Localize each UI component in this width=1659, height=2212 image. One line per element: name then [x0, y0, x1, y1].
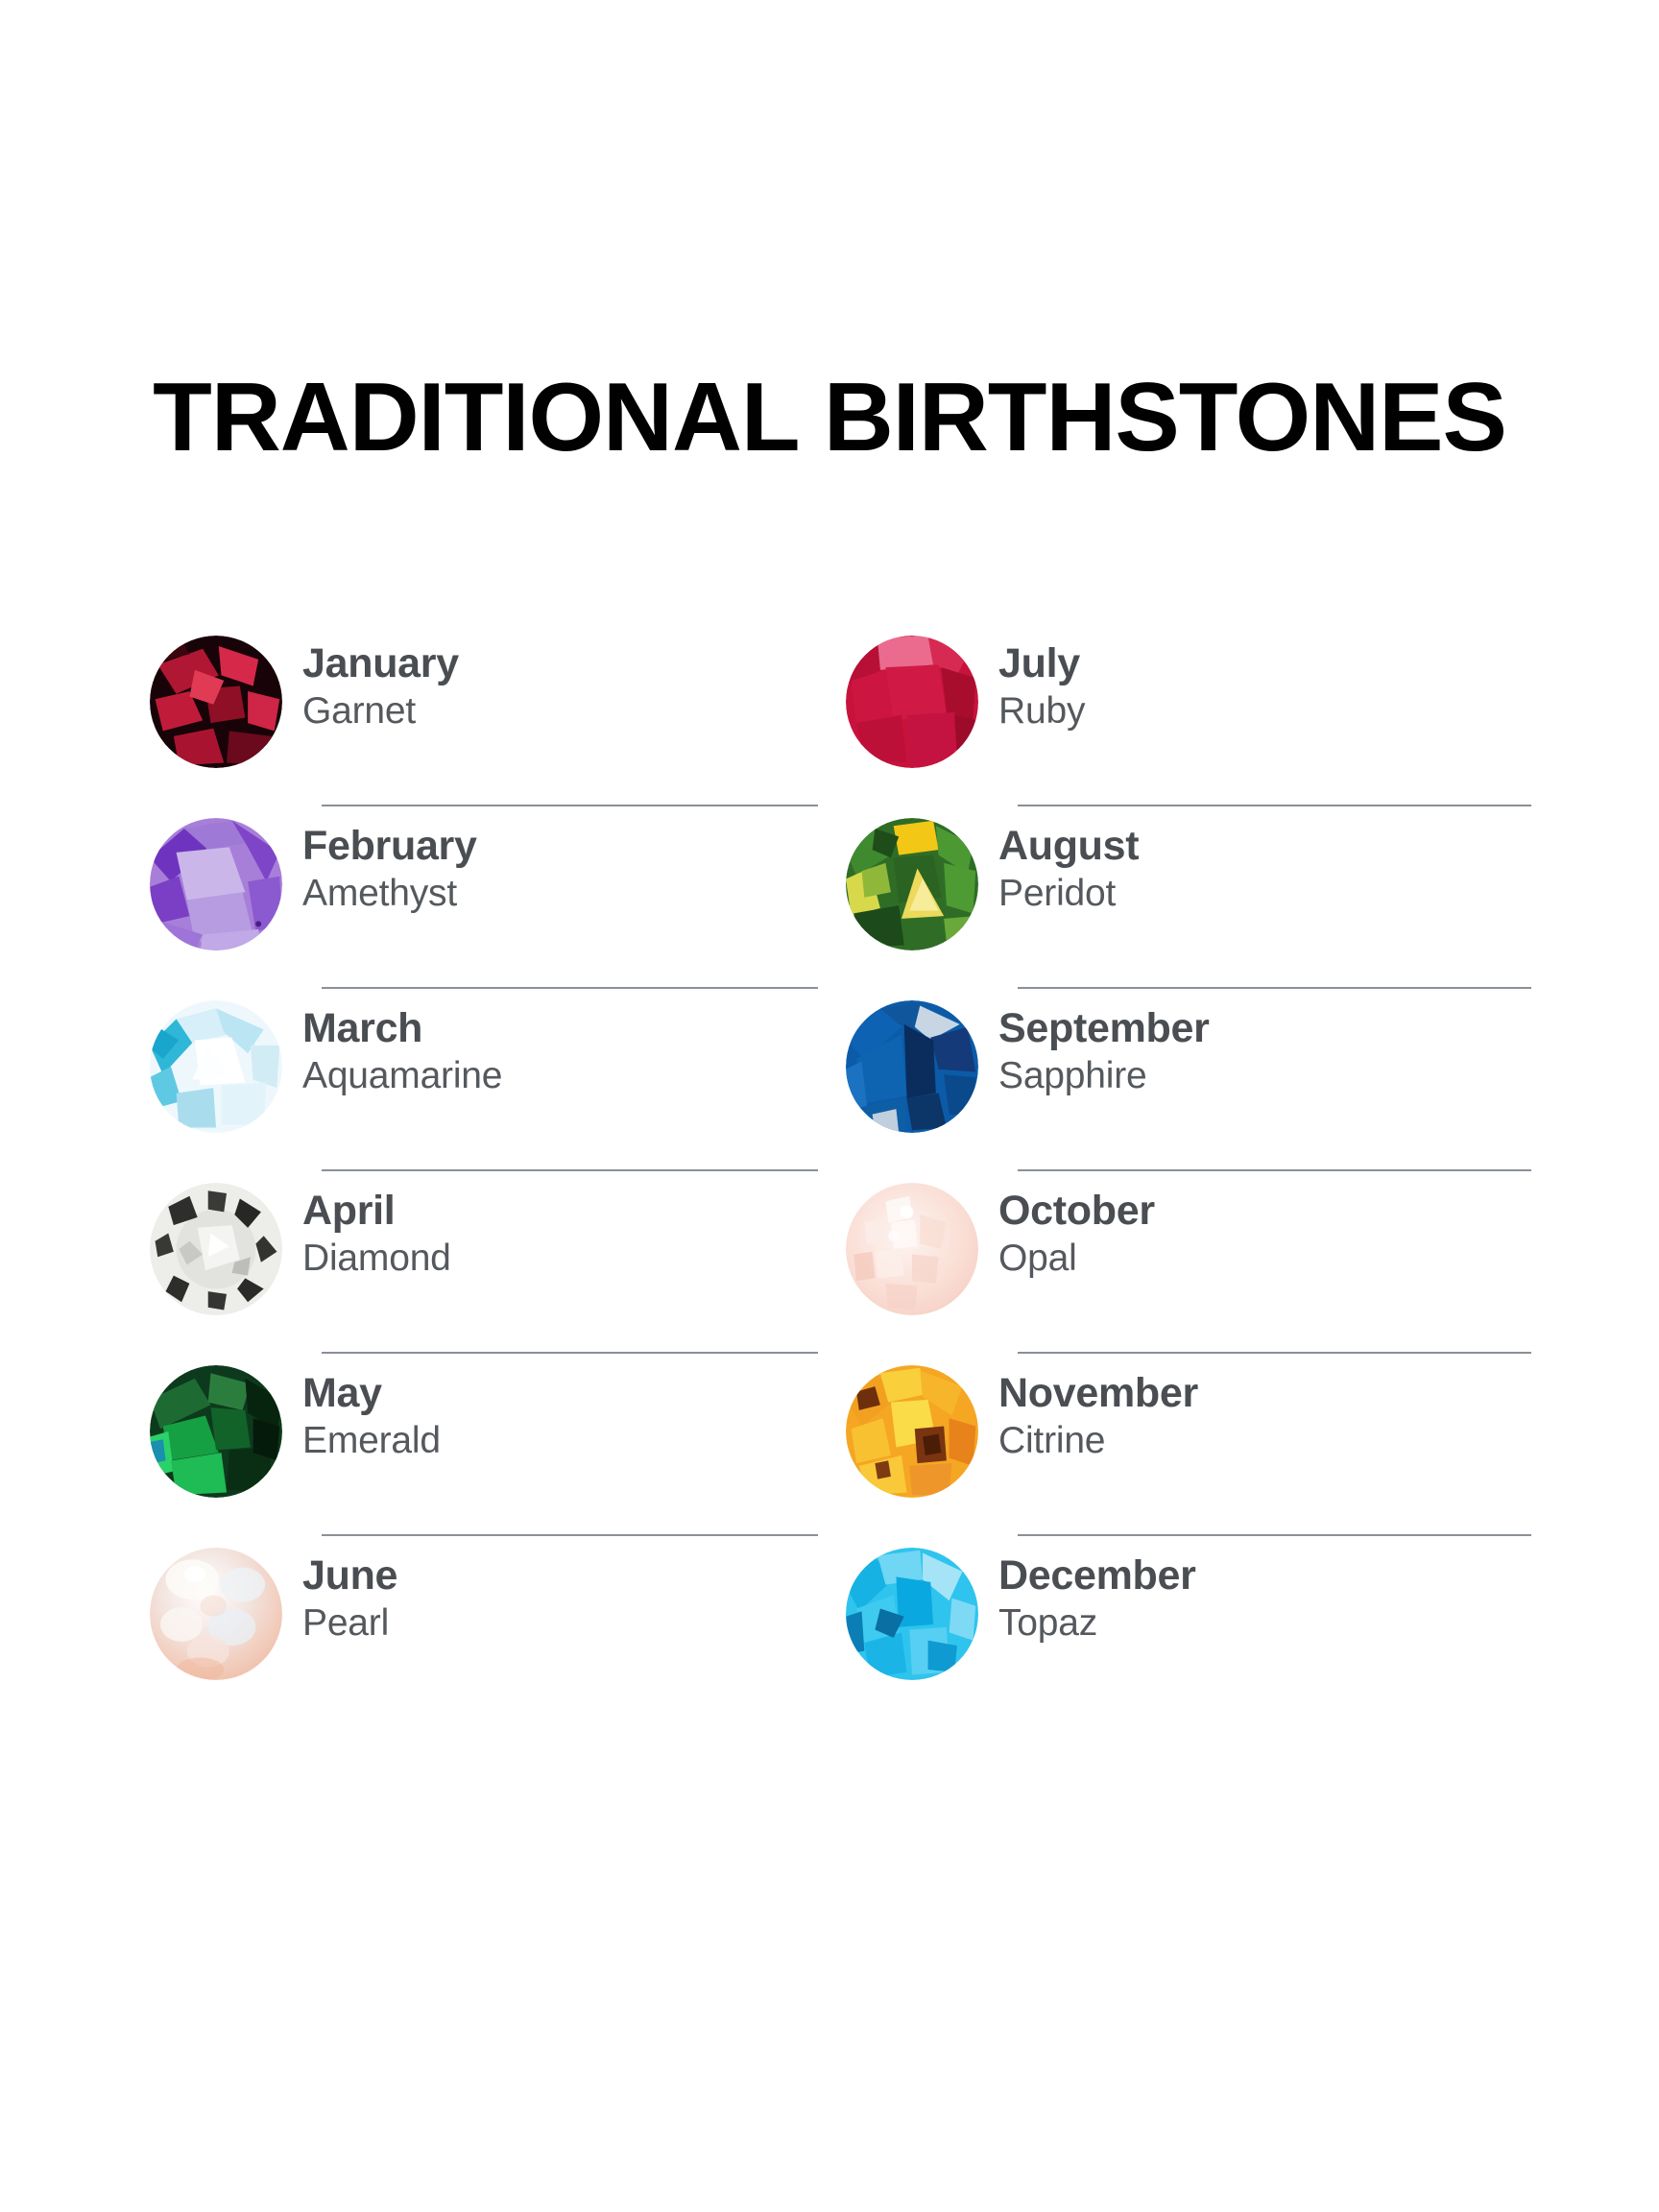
- amethyst-gem-icon: [150, 818, 282, 950]
- opal-gem-icon: [846, 1183, 978, 1315]
- pearl-gem-icon: [150, 1548, 282, 1680]
- sapphire-gem-icon: [846, 1000, 978, 1133]
- stone-label: Sapphire: [998, 1054, 1210, 1098]
- gem-slot: [835, 989, 989, 1142]
- list-item-october[interactable]: October Opal: [835, 1171, 1531, 1354]
- list-item-april[interactable]: April Diamond: [139, 1171, 835, 1354]
- peridot-gem-icon: [846, 818, 978, 950]
- left-column: January Garnet: [139, 624, 835, 1738]
- list-item-may[interactable]: May Emerald: [139, 1354, 835, 1536]
- month-label: November: [998, 1371, 1198, 1415]
- label-group: March Aquamarine: [293, 989, 502, 1098]
- citrine-gem-icon: [846, 1365, 978, 1498]
- list-item-january[interactable]: January Garnet: [139, 624, 835, 806]
- list-item-december[interactable]: December Topaz: [835, 1536, 1531, 1719]
- stone-label: Garnet: [302, 689, 459, 733]
- list-item-september[interactable]: September Sapphire: [835, 989, 1531, 1171]
- stone-label: Citrine: [998, 1419, 1198, 1463]
- stone-label: Topaz: [998, 1601, 1196, 1646]
- month-label: January: [302, 641, 459, 685]
- stone-label: Opal: [998, 1237, 1155, 1281]
- gem-slot: [139, 806, 293, 960]
- stone-label: Aquamarine: [302, 1054, 502, 1098]
- diamond-gem-icon: [150, 1183, 282, 1315]
- stone-label: Pearl: [302, 1601, 397, 1646]
- gem-slot: [139, 624, 293, 778]
- label-group: May Emerald: [293, 1354, 441, 1463]
- list-item-july[interactable]: July Ruby: [835, 624, 1531, 806]
- right-column: July Ruby: [835, 624, 1531, 1738]
- label-group: October Opal: [989, 1171, 1155, 1281]
- month-label: December: [998, 1553, 1196, 1598]
- month-label: February: [302, 824, 477, 868]
- gem-slot: [835, 624, 989, 778]
- gem-slot: [139, 1354, 293, 1507]
- label-group: April Diamond: [293, 1171, 451, 1281]
- aquamarine-gem-icon: [150, 1000, 282, 1133]
- month-label: September: [998, 1006, 1210, 1050]
- label-group: August Peridot: [989, 806, 1139, 916]
- label-group: June Pearl: [293, 1536, 397, 1646]
- stone-label: Emerald: [302, 1419, 441, 1463]
- gem-slot: [139, 989, 293, 1142]
- stone-label: Peridot: [998, 872, 1139, 916]
- list-item-june[interactable]: June Pearl: [139, 1536, 835, 1719]
- label-group: July Ruby: [989, 624, 1085, 733]
- emerald-gem-icon: [150, 1365, 282, 1498]
- birthstone-chart-page: TRADITIONAL BIRTHSTONES: [0, 0, 1659, 2212]
- month-label: October: [998, 1189, 1155, 1233]
- list-item-february[interactable]: February Amethyst: [139, 806, 835, 989]
- label-group: February Amethyst: [293, 806, 477, 916]
- month-label: August: [998, 824, 1139, 868]
- label-group: January Garnet: [293, 624, 459, 733]
- stone-label: Ruby: [998, 689, 1085, 733]
- month-label: May: [302, 1371, 441, 1415]
- ruby-gem-icon: [846, 636, 978, 768]
- gem-slot: [835, 1354, 989, 1507]
- label-group: December Topaz: [989, 1536, 1196, 1646]
- stone-label: Amethyst: [302, 872, 477, 916]
- label-group: September Sapphire: [989, 989, 1210, 1098]
- gem-slot: [835, 1171, 989, 1325]
- month-label: March: [302, 1006, 502, 1050]
- birthstone-grid: January Garnet: [139, 624, 1531, 1738]
- list-item-august[interactable]: August Peridot: [835, 806, 1531, 989]
- gem-slot: [139, 1171, 293, 1325]
- stone-label: Diamond: [302, 1237, 451, 1281]
- page-title: TRADITIONAL BIRTHSTONES: [0, 367, 1659, 469]
- label-group: November Citrine: [989, 1354, 1198, 1463]
- gem-slot: [139, 1536, 293, 1690]
- list-item-march[interactable]: March Aquamarine: [139, 989, 835, 1171]
- gem-slot: [835, 1536, 989, 1690]
- list-item-november[interactable]: November Citrine: [835, 1354, 1531, 1536]
- month-label: April: [302, 1189, 451, 1233]
- month-label: June: [302, 1553, 397, 1598]
- gem-slot: [835, 806, 989, 960]
- topaz-gem-icon: [846, 1548, 978, 1680]
- garnet-gem-icon: [150, 636, 282, 768]
- month-label: July: [998, 641, 1085, 685]
